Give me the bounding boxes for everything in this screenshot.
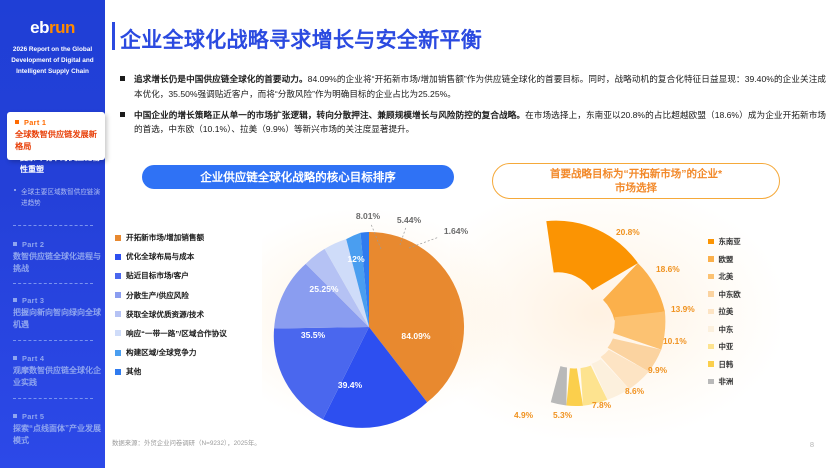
legend-swatch-icon	[708, 344, 714, 350]
ebrun-logo: ebrun	[0, 18, 105, 38]
legend-item[interactable]: 中亚	[708, 341, 788, 352]
legend-label: 拉美	[719, 306, 734, 317]
legend-item[interactable]: 日韩	[708, 359, 788, 370]
sidebar-item-part4[interactable]: Part 4 观摩数智供应链全球化企业实践	[13, 354, 101, 388]
donut-value-label-4: 9.9%	[648, 365, 668, 375]
pie-value-label-0: 84.09%	[401, 331, 431, 341]
legend-item[interactable]: 东南亚	[708, 236, 788, 247]
legend-label: 中亚	[719, 341, 734, 352]
legend-item[interactable]: 中东	[708, 324, 788, 335]
legend-label: 东南亚	[719, 236, 741, 247]
right-chart-panel: 首要战略目标为“开拓新市场”的企业* 市场选择 20.8% 18.6% 13.9…	[480, 158, 830, 438]
legend-label: 中东欧	[719, 289, 741, 300]
legend-item[interactable]: 中东欧	[708, 289, 788, 300]
sidebar-divider-2	[13, 283, 93, 284]
bullet-lead: 追求增长仍是中国供应链全球化的首要动力。	[134, 74, 308, 84]
legend-swatch-icon	[708, 291, 714, 297]
bullet-list: 追求增长仍是中国供应链全球化的首要动力。84.09%的企业将“开拓新市场/增加销…	[120, 72, 826, 143]
legend-swatch-icon	[708, 361, 714, 367]
right-chart-title-line2: 市场选择	[615, 181, 657, 195]
donut-value-label-6: 7.8%	[592, 400, 612, 410]
legend-item[interactable]: 构建区域/全球竞争力	[115, 347, 250, 358]
legend-item[interactable]: 其他	[115, 366, 250, 377]
sidebar-divider-1	[13, 225, 93, 226]
square-bullet-icon	[120, 76, 125, 81]
chevron-right-icon: ➤	[9, 152, 15, 162]
legend-item[interactable]: 拉美	[708, 306, 788, 317]
left-chart-title: 企业供应链全球化战略的核心目标排序	[142, 165, 454, 189]
legend-label: 优化全球布局与成本	[126, 251, 194, 262]
legend-label: 中东	[719, 324, 734, 335]
legend-swatch-icon	[708, 309, 714, 315]
page-title: 企业全球化战略寻求增长与安全新平衡	[120, 24, 482, 54]
part1-label: Part 1	[24, 118, 46, 127]
part5-label-row: Part 5	[13, 412, 101, 421]
legend-label: 分散生产/供应风险	[126, 290, 189, 301]
sidebar-subitem-active-text: 复杂环境下的供应链韧性重塑	[20, 153, 100, 174]
legend-swatch-icon	[708, 326, 714, 332]
pie-value-label-4: 12%	[347, 254, 365, 264]
legend-item[interactable]: 非洲	[708, 376, 788, 387]
pie-value-label-2: 35.5%	[301, 330, 326, 340]
legend-label: 欧盟	[719, 254, 734, 265]
right-chart-title-line1: 首要战略目标为“开拓新市场”的企业*	[550, 167, 722, 181]
part4-label-row: Part 4	[13, 354, 101, 363]
sidebar-divider-4	[13, 398, 93, 399]
donut-value-label-8: 4.9%	[514, 410, 534, 420]
legend-item[interactable]: 开拓新市场/增加销售额	[115, 232, 250, 243]
dot-bullet-icon	[14, 189, 16, 191]
legend-swatch-icon	[708, 256, 714, 262]
part4-label: Part 4	[22, 354, 44, 363]
bullet-lead: 中国企业的增长策略正从单一的市场扩张逻辑，转向分散押注、兼顾规模增长与风险防控的…	[134, 110, 525, 120]
legend-swatch-icon	[115, 292, 121, 298]
donut-value-label-5: 8.6%	[625, 386, 645, 396]
legend-item[interactable]: 分散生产/供应风险	[115, 290, 250, 301]
donut-slice-7[interactable]	[566, 368, 583, 406]
legend-label: 贴近目标市场/客户	[126, 270, 189, 281]
pie-value-label-5: 8.01%	[356, 211, 381, 221]
pie-leader-line-7	[409, 237, 439, 248]
right-chart-title: 首要战略目标为“开拓新市场”的企业* 市场选择	[492, 163, 780, 199]
part3-label-row: Part 3	[13, 296, 101, 305]
pie-chart-goals: 84.09% 39.4% 35.5% 25.25% 12% 8.01% 5.44…	[244, 202, 494, 452]
legend-label: 响应“一带一路”/区域合作协议	[126, 328, 227, 339]
legend-item[interactable]: 优化全球布局与成本	[115, 251, 250, 262]
legend-swatch-icon	[115, 254, 121, 260]
legend-label: 北美	[719, 271, 734, 282]
donut-value-label-1: 18.6%	[656, 264, 680, 274]
part2-label: Part 2	[22, 240, 44, 249]
part2-title: 数智供应链全球化进程与挑战	[13, 251, 101, 274]
sidebar-divider-3	[13, 340, 93, 341]
bullet-item: 中国企业的增长策略正从单一的市场扩张逻辑，转向分散押注、兼顾规模增长与风险防控的…	[120, 108, 826, 138]
part2-label-row: Part 2	[13, 240, 101, 249]
part1-label-row: Part 1	[15, 118, 97, 127]
donut-value-label-3: 10.1%	[663, 336, 687, 346]
legend-item[interactable]: 北美	[708, 271, 788, 282]
sidebar-subitem-active-label: ➤ 复杂环境下的供应链韧性重塑	[9, 152, 101, 175]
legend-item[interactable]: 获取全球优质资源/技术	[115, 309, 250, 320]
legend-swatch-icon	[115, 235, 121, 241]
sidebar: ebrun 2026 Report on the Global Developm…	[0, 0, 105, 468]
square-bullet-icon	[13, 356, 17, 360]
pie-value-label-7: 1.64%	[444, 226, 469, 236]
square-bullet-icon	[120, 112, 125, 117]
legend-swatch-icon	[708, 239, 714, 245]
part1-title: 全球数智供应链发展新格局	[15, 129, 97, 153]
legend-item[interactable]: 欧盟	[708, 254, 788, 265]
donut-chart-markets: 20.8% 18.6% 13.9% 10.1% 9.9% 8.6% 7.8% 5…	[508, 210, 738, 445]
legend-swatch-icon	[115, 311, 121, 317]
pie-value-label-3: 25.25%	[309, 284, 339, 294]
sidebar-subitem-active[interactable]: ➤ 复杂环境下的供应链韧性重塑	[9, 152, 101, 175]
sidebar-item-part2[interactable]: Part 2 数智供应链全球化进程与挑战	[13, 240, 101, 274]
legend-swatch-icon	[708, 379, 714, 385]
pie-value-label-1: 39.4%	[338, 380, 363, 390]
legend-label: 构建区域/全球竞争力	[126, 347, 196, 358]
bullet-item: 追求增长仍是中国供应链全球化的首要动力。84.09%的企业将“开拓新市场/增加销…	[120, 72, 826, 102]
part4-title: 观摩数智供应链全球化企业实践	[13, 365, 101, 388]
legend-swatch-icon	[115, 369, 121, 375]
legend-label: 其他	[126, 366, 141, 377]
report-subtitle: 2026 Report on the Global Development of…	[9, 44, 96, 78]
logo-text-primary: eb	[30, 18, 49, 37]
footnote: 数据来源：外贸企业问卷调研（N=9232），2025年。	[112, 438, 261, 447]
page-number: 8	[810, 440, 814, 449]
legend-label: 获取全球优质资源/技术	[126, 309, 204, 320]
title-accent-rule	[112, 22, 115, 50]
donut-value-label-2: 13.9%	[671, 304, 695, 314]
legend-label: 非洲	[719, 376, 734, 387]
left-chart-panel: 企业供应链全球化战略的核心目标排序 开拓新市场/增加销售额 优化全球布局与成本 …	[112, 160, 492, 435]
legend-swatch-icon	[115, 330, 121, 336]
part3-title: 把握向新向智向绿向全球机遇	[13, 307, 101, 330]
donut-slices	[546, 221, 665, 406]
part3-label: Part 3	[22, 296, 44, 305]
pie-value-label-6: 5.44%	[397, 215, 422, 225]
left-chart-legend: 开拓新市场/增加销售额 优化全球布局与成本 贴近目标市场/客户 分散生产/供应风…	[115, 232, 250, 386]
donut-slice-8[interactable]	[551, 366, 567, 405]
right-chart-legend: 东南亚 欧盟 北美 中东欧 拉美 中东 中亚 日韩 非洲	[708, 236, 788, 394]
sidebar-item-part3[interactable]: Part 3 把握向新向智向绿向全球机遇	[13, 296, 101, 330]
logo-text-accent: run	[49, 18, 75, 37]
square-bullet-icon	[15, 120, 19, 124]
legend-label: 日韩	[719, 359, 734, 370]
donut-value-label-7: 5.3%	[553, 410, 573, 420]
square-bullet-icon	[13, 414, 17, 418]
part5-title: 探索“点线面体”产业发展模式	[13, 423, 101, 446]
donut-value-label-0: 20.8%	[616, 227, 640, 237]
legend-item[interactable]: 响应“一带一路”/区域合作协议	[115, 328, 250, 339]
legend-swatch-icon	[115, 273, 121, 279]
part5-label: Part 5	[22, 412, 44, 421]
legend-swatch-icon	[115, 350, 121, 356]
sidebar-subitem-dim-label: 全球主要区域数智供应链演进趋势	[21, 189, 100, 207]
legend-swatch-icon	[708, 274, 714, 280]
legend-item[interactable]: 贴近目标市场/客户	[115, 270, 250, 281]
legend-label: 开拓新市场/增加销售额	[126, 232, 204, 243]
sidebar-subitem-dim[interactable]: 全球主要区域数智供应链演进趋势	[14, 188, 102, 209]
square-bullet-icon	[13, 242, 17, 246]
sidebar-item-part5[interactable]: Part 5 探索“点线面体”产业发展模式	[13, 412, 101, 446]
square-bullet-icon	[13, 298, 17, 302]
